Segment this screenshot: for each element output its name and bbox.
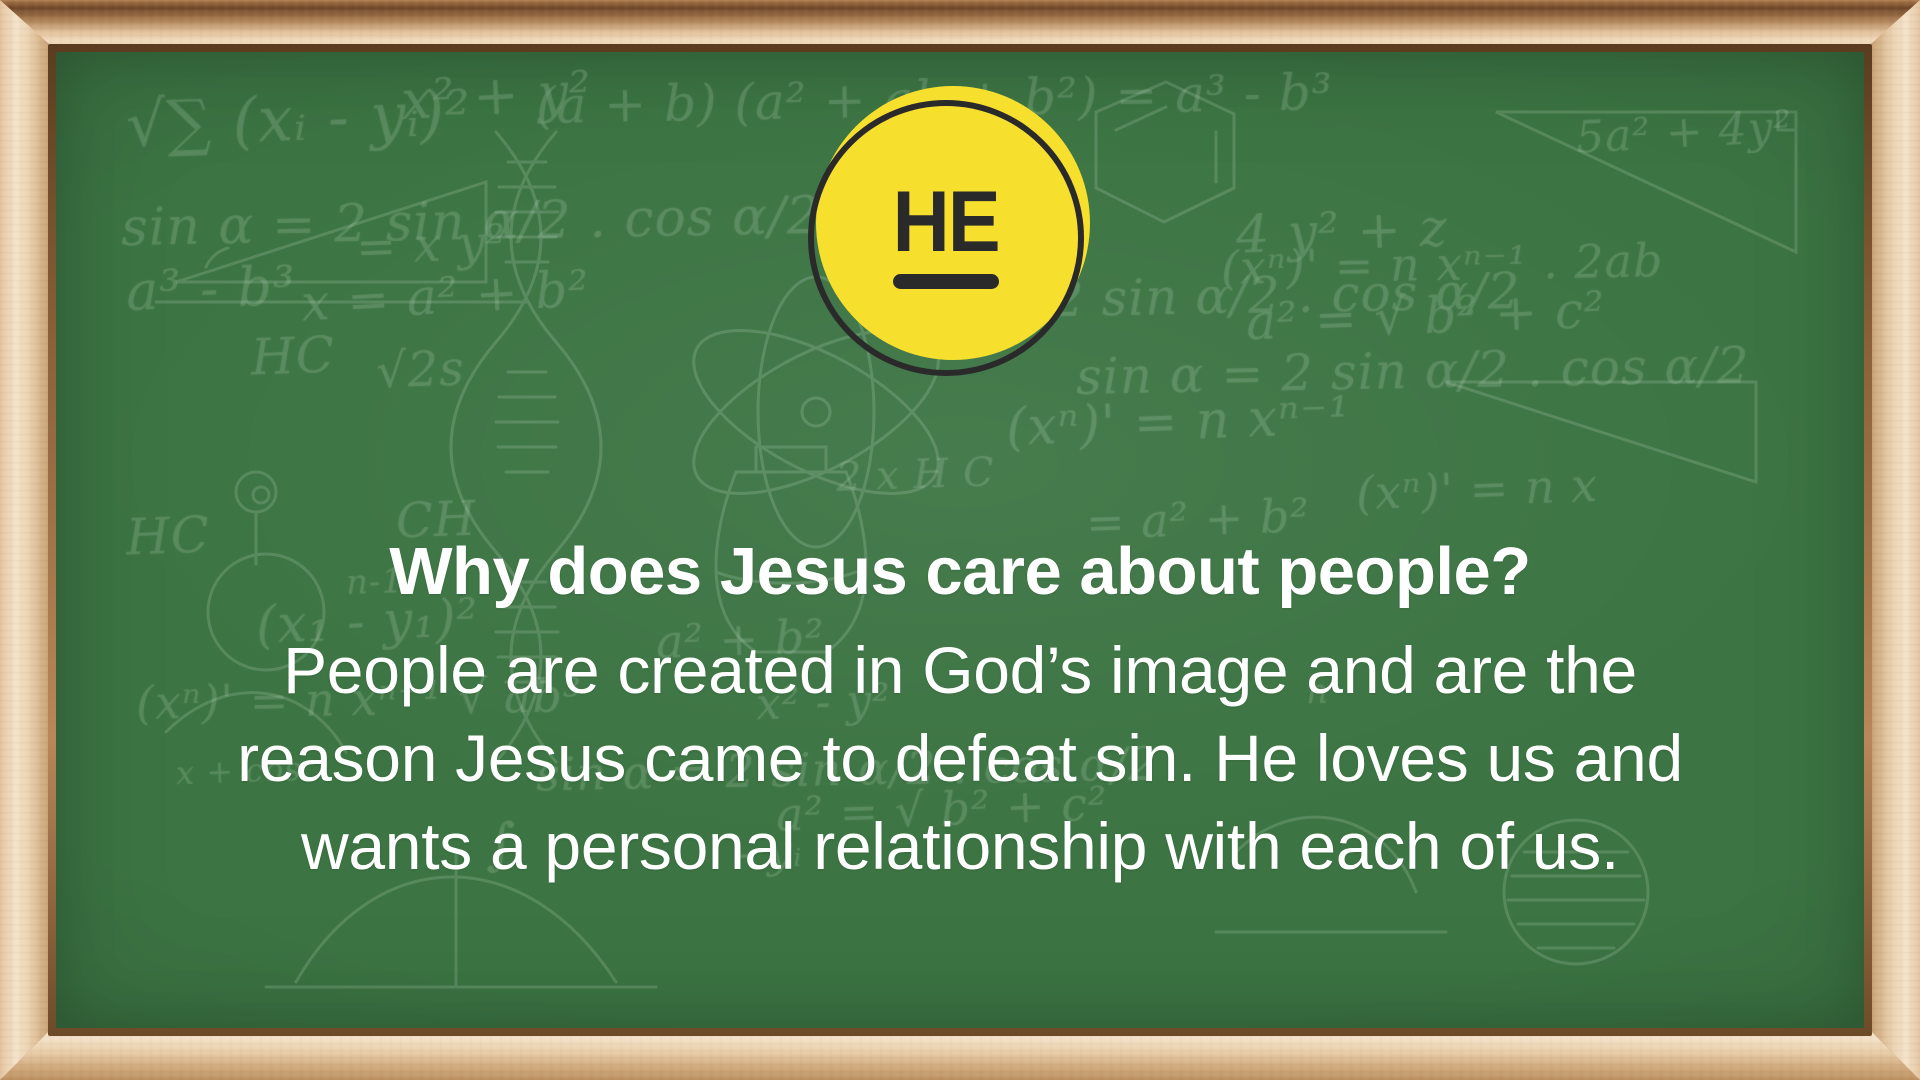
chalk-formula: √∑ (xᵢ - yᵢ)² — [125, 76, 472, 161]
chalk-right-triangle-2 — [1446, 382, 1756, 482]
chalk-formula: 5a² + 4y² — [1575, 101, 1794, 163]
chalk-formula: = x y² — [355, 214, 507, 275]
chalk-formula: a² = √ b² + c² — [1245, 281, 1606, 351]
logo-underline-bar-icon — [893, 274, 999, 289]
chalk-formula: HC — [250, 326, 336, 387]
body-line: wants a personal relationship with each … — [86, 803, 1834, 891]
logo-initials: HE — [893, 187, 999, 258]
he-logo-badge[interactable]: HE — [808, 86, 1098, 376]
body-line: People are created in God’s image and ar… — [86, 627, 1834, 715]
body-line: reason Jesus came to defeat sin. He love… — [86, 715, 1834, 803]
chalk-formula: 2 x H C — [835, 449, 995, 501]
chalk-formula: x² + y² — [399, 59, 593, 132]
card-body-text: People are created in God’s image and ar… — [86, 627, 1834, 890]
chalk-formula: sin α = 2 sin α/2 . cos α/2 — [1076, 336, 1751, 406]
chalk-formula: √2s — [375, 340, 466, 399]
chalk-formula: x = a² + b² — [300, 259, 591, 332]
chalk-benzene-ring — [1096, 82, 1234, 222]
chalk-triangle-diagram — [156, 182, 526, 302]
chalk-right-triangle — [1496, 112, 1796, 252]
page-title: Why does Jesus care about people? — [86, 537, 1834, 607]
blackboard-card: √∑ (xᵢ - yᵢ)²x² + y²(a + b) (a² + ab + b… — [0, 0, 1920, 1080]
chalk-formula: (xⁿ)' = n x — [1355, 458, 1599, 520]
chalk-formula: (xⁿ)' = n xⁿ⁻¹ . 2ab — [1221, 233, 1664, 295]
chalk-formula: a³ - b³ — [125, 254, 297, 323]
logo-mark: HE — [808, 100, 1084, 376]
chalkboard-surface: √∑ (xᵢ - yᵢ)²x² + y²(a + b) (a² + ab + b… — [56, 52, 1864, 1028]
chalk-formula: sin α = 2 sin α/2 . cos α/2 — [121, 186, 822, 258]
chalk-formula: (xⁿ)' = n xⁿ⁻¹ — [1005, 386, 1352, 458]
chalk-formula: 4 y² + z — [1235, 198, 1449, 265]
card-copy: Why does Jesus care about people? People… — [56, 537, 1864, 891]
